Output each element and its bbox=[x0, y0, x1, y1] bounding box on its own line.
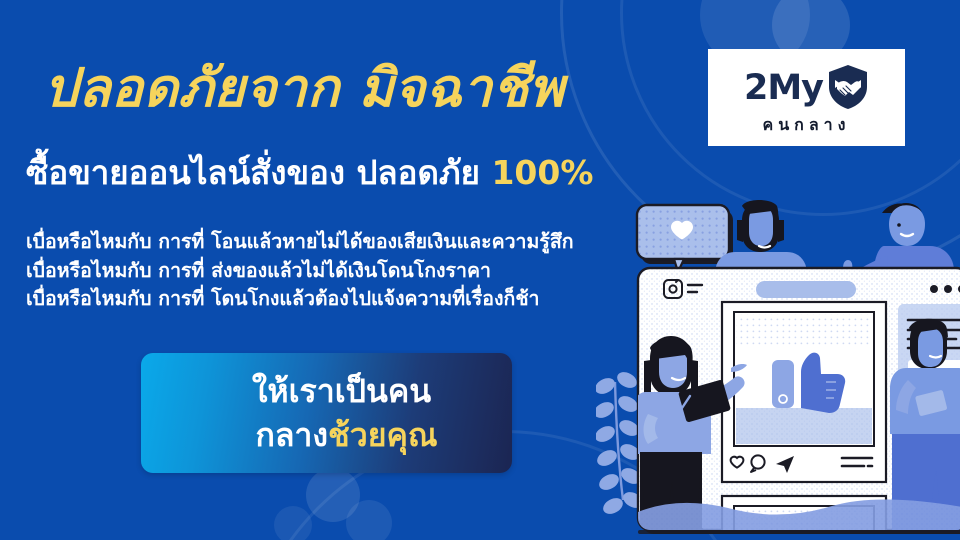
social-media-review-illustration bbox=[596, 168, 960, 540]
brand-logo[interactable]: 2My คนกลาง bbox=[708, 49, 905, 146]
headline: ปลอดภัยจาก มิจฉาชีพ bbox=[44, 58, 564, 120]
logo-tagline: คนกลาง bbox=[763, 116, 851, 134]
cta-line-1: ให้เราเป็นคน bbox=[252, 369, 431, 413]
list-item: เบื่อหรือไหมกับ การที่ โดนโกงแล้วต้องไปแ… bbox=[26, 285, 574, 314]
list-item: เบื่อหรือไหมกับ การที่ โอนแล้วหายไม่ได้ข… bbox=[26, 228, 574, 257]
list-item: เบื่อหรือไหมกับ การที่ ส่งของแล้วไม่ได้เ… bbox=[26, 257, 574, 286]
banner-canvas: ปลอดภัยจาก มิจฉาชีพ ซื้อขายออนไลน์สั่งขอ… bbox=[0, 0, 960, 540]
bg-circle-e bbox=[346, 500, 392, 540]
shield-handshake-icon bbox=[827, 64, 869, 114]
social-post-card bbox=[633, 268, 960, 538]
bg-circle-f bbox=[274, 506, 312, 540]
cta-line-2-plain: กลาง bbox=[255, 416, 328, 454]
subheadline-percent: 100% bbox=[491, 153, 593, 192]
bullet-list: เบื่อหรือไหมกับ การที่ โอนแล้วหายไม่ได้ข… bbox=[26, 228, 574, 314]
cta-banner[interactable]: ให้เราเป็นคน กลางช้วยคุณ bbox=[141, 353, 512, 473]
logo-row: 2My bbox=[744, 64, 869, 114]
cta-line-2-highlight: ช้วยคุณ bbox=[328, 416, 438, 454]
subheadline-text: ซื้อขายออนไลน์สั่งของ ปลอดภัย bbox=[26, 153, 491, 192]
subheadline: ซื้อขายออนไลน์สั่งของ ปลอดภัย 100% bbox=[26, 152, 593, 194]
logo-wordmark: 2My bbox=[744, 71, 823, 106]
cta-line-2: กลางช้วยคุณ bbox=[255, 413, 437, 457]
